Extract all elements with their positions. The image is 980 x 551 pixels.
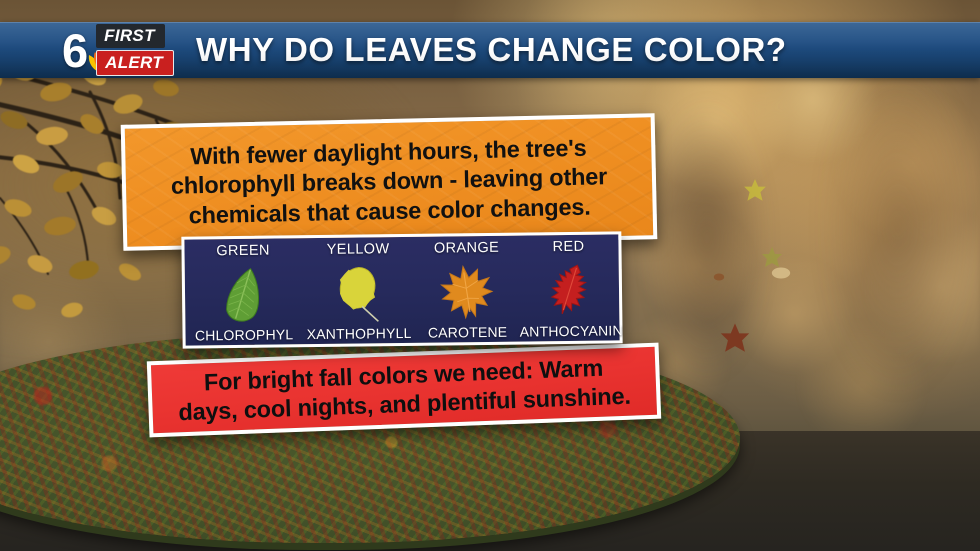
broadcast-graphic: 6 FIRST ALERT WHY DO LEAVES CHANGE COLOR… <box>0 0 980 551</box>
floating-leaf-small <box>712 270 726 284</box>
leaf-cell-yellow <box>302 261 416 328</box>
pigment-anthocyanin: ANTHOCYANIN <box>520 322 620 339</box>
page-title: WHY DO LEAVES CHANGE COLOR? <box>196 31 787 69</box>
title-banner: 6 FIRST ALERT WHY DO LEAVES CHANGE COLOR… <box>0 22 980 78</box>
leaf-cell-green <box>185 262 303 329</box>
color-name-orange: ORANGE <box>414 240 518 257</box>
first-alert-badge: FIRST ALERT <box>96 24 174 76</box>
channel-number: 6 <box>62 27 86 74</box>
leaf-illustration-row <box>185 258 620 329</box>
badge-first-label: FIRST <box>96 24 165 48</box>
background-trunk-blur-right <box>823 55 973 395</box>
maple-leaf-icon <box>438 262 497 325</box>
badge-alert-label: ALERT <box>96 50 174 76</box>
red-panel-text: For bright fall colors we need: Warm day… <box>165 352 643 428</box>
floating-leaf-red <box>718 322 752 356</box>
pigment-carotene: CAROTENE <box>415 324 519 341</box>
station-logo[interactable]: 6 FIRST ALERT <box>62 22 174 78</box>
elm-leaf-icon <box>218 265 269 328</box>
leaf-cell-orange <box>415 260 520 327</box>
color-name-row: GREEN YELLOW ORANGE RED <box>184 238 618 259</box>
floating-leaf-green <box>760 246 784 270</box>
orange-panel-text: With fewer daylight hours, the tree's ch… <box>156 133 622 230</box>
oak-leaf-icon <box>546 261 593 324</box>
pigment-xanthophyll: XANTHOPHYLL <box>303 325 416 342</box>
color-name-green: GREEN <box>184 242 301 259</box>
color-name-red: RED <box>519 238 619 255</box>
explanation-panel-orange: With fewer daylight hours, the tree's ch… <box>121 113 658 251</box>
pigment-panel: GREEN YELLOW ORANGE RED <box>181 231 622 348</box>
color-name-yellow: YELLOW <box>302 241 415 258</box>
pigment-chlorophyl: CHLOROPHYL <box>185 326 302 343</box>
aspen-leaf-icon <box>331 263 386 326</box>
leaf-cell-red <box>519 258 620 325</box>
floating-leaf-yellow <box>742 178 768 204</box>
